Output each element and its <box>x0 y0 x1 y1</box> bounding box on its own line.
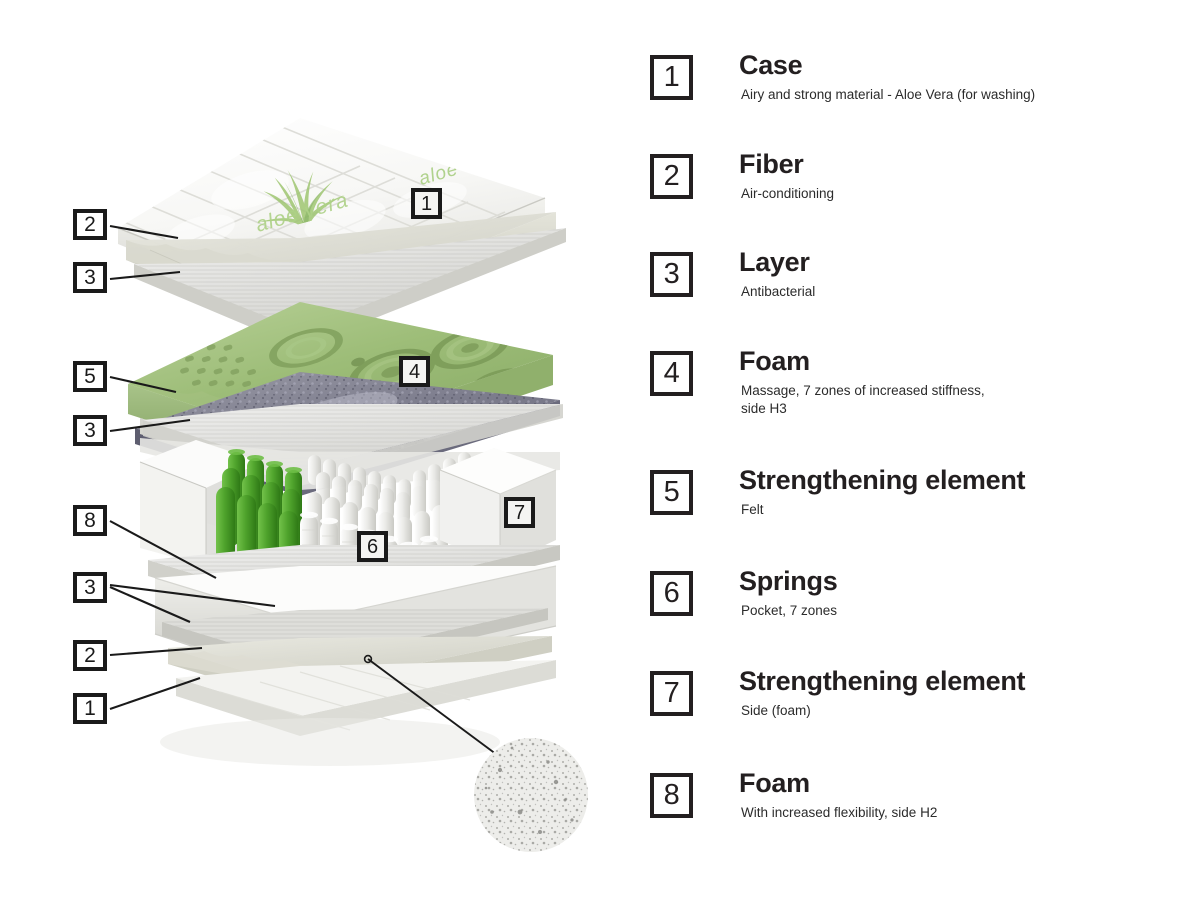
mattress-layers-infographic: aloe vera aloe vera <box>0 0 1200 899</box>
legend-subtitle-5: Felt <box>739 501 1189 519</box>
legend-subtitle-8: With increased flexibility, side H2 <box>739 804 1189 822</box>
legend-number-1: 1 <box>650 55 693 100</box>
legend-title-3: Layer <box>739 248 1189 277</box>
legend-title-5: Strengthening element <box>739 466 1189 495</box>
legend-subtitle-1: Airy and strong material - Aloe Vera (fo… <box>739 86 1189 104</box>
diagram-marker-4: 4 <box>399 356 430 387</box>
legend-subtitle-6: Pocket, 7 zones <box>739 602 1189 620</box>
legend-title-8: Foam <box>739 769 1189 798</box>
legend-text-1: Case Airy and strong material - Aloe Ver… <box>739 51 1189 104</box>
legend-subtitle-7: Side (foam) <box>739 702 1189 720</box>
edge-marker-2-fiber: 2 <box>73 209 107 240</box>
legend-number-8: 8 <box>650 773 693 818</box>
exploded-mattress-diagram: aloe vera aloe vera <box>0 0 650 899</box>
edge-marker-3-layer-3: 3 <box>73 572 107 603</box>
legend-title-6: Springs <box>739 567 1189 596</box>
edge-marker-3-layer: 3 <box>73 262 107 293</box>
legend-number-7: 7 <box>650 671 693 716</box>
edge-marker-3-layer-2: 3 <box>73 415 107 446</box>
legend-text-6: Springs Pocket, 7 zones <box>739 567 1189 620</box>
legend-text-3: Layer Antibacterial <box>739 248 1189 301</box>
edge-marker-2-fiber-2: 2 <box>73 640 107 671</box>
edge-marker-8-foam: 8 <box>73 505 107 536</box>
legend-list: 1 Case Airy and strong material - Aloe V… <box>650 55 1190 855</box>
legend-title-4: Foam <box>739 347 1189 376</box>
legend-subtitle-3: Antibacterial <box>739 283 1189 301</box>
legend-text-5: Strengthening element Felt <box>739 466 1189 519</box>
legend-title-2: Fiber <box>739 150 1189 179</box>
legend-text-8: Foam With increased flexibility, side H2 <box>739 769 1189 822</box>
diagram-marker-7: 7 <box>504 497 535 528</box>
edge-marker-5-felt: 5 <box>73 361 107 392</box>
legend-number-5: 5 <box>650 470 693 515</box>
legend-text-4: Foam Massage, 7 zones of increased stiff… <box>739 347 1189 419</box>
legend-subtitle-4: Massage, 7 zones of increased stiffness,… <box>739 382 1189 418</box>
legend-title-7: Strengthening element <box>739 667 1189 696</box>
legend-number-2: 2 <box>650 154 693 199</box>
legend-number-4: 4 <box>650 351 693 396</box>
legend-subtitle-2: Air-conditioning <box>739 185 1189 203</box>
legend-number-3: 3 <box>650 252 693 297</box>
legend-title-1: Case <box>739 51 1189 80</box>
diagram-marker-1: 1 <box>411 188 442 219</box>
edge-marker-1-case: 1 <box>73 693 107 724</box>
diagram-marker-6: 6 <box>357 531 388 562</box>
legend-number-6: 6 <box>650 571 693 616</box>
legend-text-7: Strengthening element Side (foam) <box>739 667 1189 720</box>
legend-text-2: Fiber Air-conditioning <box>739 150 1189 203</box>
